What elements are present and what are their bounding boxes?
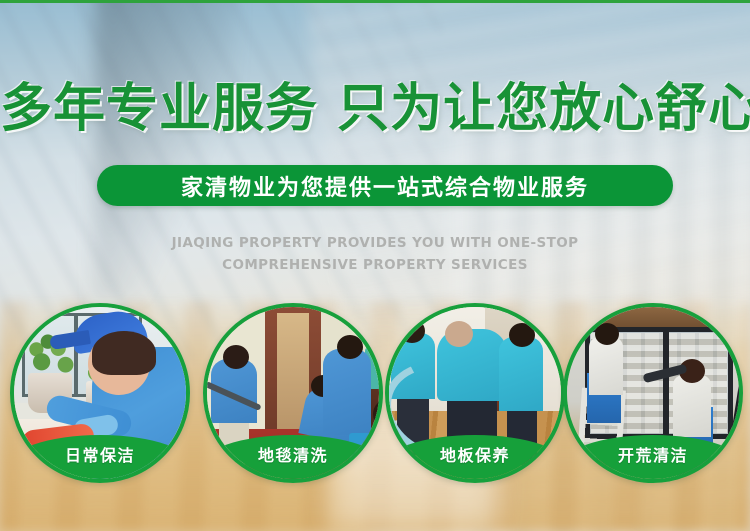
promo-banner: 多年专业服务 只为让您放心舒心 家清物业为您提供一站式综合物业服务 JIAQIN… [0,0,750,531]
service-label-post-construction-cleaning: 开荒清洁 [618,442,688,466]
service-card-floor-maintenance[interactable]: 地板保养 [385,303,565,483]
service-label-floor-maintenance: 地板保养 [440,442,510,466]
service-card-daily-cleaning[interactable]: 日常保洁 [10,303,190,483]
top-green-rule [0,0,750,3]
service-card-post-construction-cleaning[interactable]: 开荒清洁 [563,303,743,483]
service-card-carpet-cleaning[interactable]: 地毯清洗 [203,303,383,483]
service-circle-row: 日常保洁 地毯清洗 [0,303,750,485]
service-label-daily-cleaning: 日常保洁 [65,442,135,466]
subtitle-english: JIAQING PROPERTY PROVIDES YOU WITH ONE-S… [0,232,750,276]
tagline-text: 家清物业为您提供一站式综合物业服务 [181,170,589,202]
page-title: 多年专业服务 只为让您放心舒心 [0,80,750,138]
subtitle-line-1: JIAQING PROPERTY PROVIDES YOU WITH ONE-S… [0,232,750,254]
subtitle-line-2: COMPREHENSIVE PROPERTY SERVICES [0,254,750,276]
tagline-pill: 家清物业为您提供一站式综合物业服务 [97,165,673,206]
service-label-carpet-cleaning: 地毯清洗 [258,442,328,466]
